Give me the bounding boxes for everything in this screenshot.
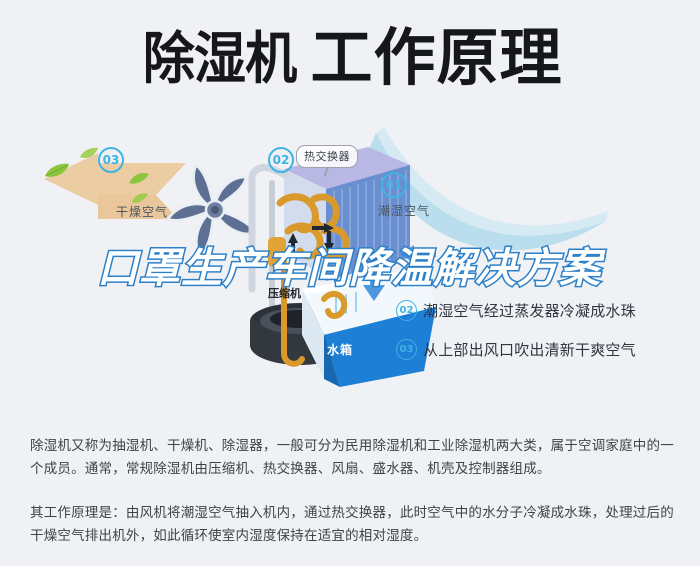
- bullet-number-badge: 03: [396, 339, 417, 360]
- list-item: 02 潮湿空气经过蒸发器冷凝成水珠: [396, 300, 696, 321]
- list-item: 03 从上部出风口吹出清新干爽空气: [396, 339, 696, 360]
- label-compressor: 压缩机: [268, 285, 301, 301]
- page-title-part2: 工作原理: [310, 28, 562, 90]
- callout-heat-exchanger: 热交换器: [296, 145, 358, 168]
- marker-badge-02: 02: [268, 147, 294, 173]
- page-title-part1: 除湿机: [143, 31, 296, 87]
- body-paragraph-1: 除湿机又称为抽湿机、干燥机、除湿器，一般可分为民用除湿机和工业除湿机两大类，属于…: [30, 434, 676, 480]
- bullet-text: 从上部出风口吹出清新干爽空气: [423, 339, 636, 360]
- leaf-icon: [44, 163, 70, 184]
- leaf-icon: [79, 147, 99, 165]
- body-paragraph-2: 其工作原理是：由风机将潮湿空气抽入机内，通过热交换器，此时空气中的水分子冷凝成水…: [30, 501, 676, 547]
- marker-badge-01: 01: [381, 172, 407, 198]
- page-title: 除湿机工作原理: [0, 28, 700, 90]
- bullet-text: 潮湿空气经过蒸发器冷凝成水珠: [423, 300, 636, 321]
- leaf-icon: [128, 171, 150, 190]
- label-dry-air: 干燥空气: [116, 203, 168, 220]
- bullet-list: 02 潮湿空气经过蒸发器冷凝成水珠 03 从上部出风口吹出清新干爽空气: [396, 300, 696, 378]
- label-water-tank: 水箱: [327, 341, 353, 358]
- bullet-number-badge: 02: [396, 300, 417, 321]
- label-humid-air: 潮湿空气: [378, 202, 430, 219]
- marker-badge-03: 03: [98, 147, 124, 173]
- infographic-stage: 除湿机工作原理: [0, 0, 700, 566]
